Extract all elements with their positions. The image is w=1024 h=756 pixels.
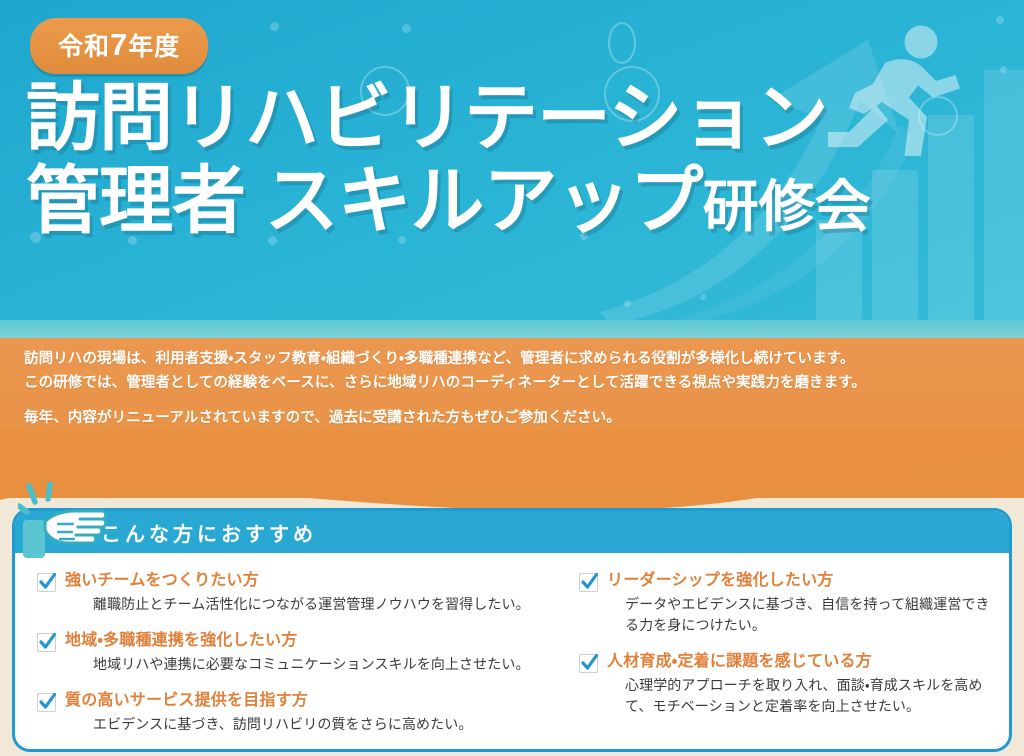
decor-dot (700, 294, 706, 300)
decor-dot (996, 16, 1004, 24)
list-item-title: リーダーシップを強化したい方 (607, 571, 833, 591)
list-item-header: リーダーシップを強化したい方 (579, 571, 1003, 592)
recommend-card: こんな方におすすめ 強いチームをつくりたい方 離職防止とチーム活性化につながる運… (12, 508, 1012, 752)
decor-dot (402, 24, 411, 33)
list-item: 強いチームをつくりたい方 離職防止とチーム活性化につながる運営管理ノウハウを習得… (37, 571, 563, 615)
description-p1-line2: この研修では、管理者としての経験をベースに、さらに地域リハのコーディネーターとし… (24, 375, 866, 391)
checkmark-icon (37, 693, 56, 712)
list-item: 人材育成・定着に課題を感じている方 心理学的アプローチを取り入れ、面談・育成スキ… (579, 652, 1003, 717)
checkmark-icon (37, 633, 56, 652)
title-line-1: 訪問リハビリテーション (26, 80, 871, 155)
recommend-card-header: こんな方におすすめ (15, 511, 1012, 553)
list-item: リーダーシップを強化したい方 データやエビデンスに基づき、自信を持って組織運営で… (579, 571, 1003, 636)
list-item-desc: エビデンスに基づき、訪問リハビリの質をさらに高めたい。 (93, 714, 563, 735)
list-item-title: 質の高いサービス提供を目指す方 (65, 691, 308, 711)
title-line-2-suffix: 研修会 (703, 175, 871, 238)
list-item-header: 人材育成・定着に課題を感じている方 (579, 652, 1003, 673)
description-paragraph-1: 訪問リハの現場は、利用者支援・スタッフ教育・組織づくり・多職種連携など、管理者に… (24, 348, 1008, 396)
list-item: 質の高いサービス提供を目指す方 エビデンスに基づき、訪問リハビリの質をさらに高め… (37, 691, 563, 735)
header-banner: 令和7年度 訪問リハビリテーション 管理者 スキルアップ研修会 (0, 0, 1024, 320)
description-text: 訪問リハの現場は、利用者支援・スタッフ教育・組織づくり・多職種連携など、管理者に… (24, 348, 1008, 431)
list-item-desc: 離職防止とチーム活性化につながる運営管理ノウハウを習得したい。 (93, 594, 563, 615)
year-badge: 令和7年度 (30, 18, 208, 74)
header-accent-band (0, 320, 1024, 338)
title-line-2-main: 管理者 スキルアップ (26, 159, 703, 242)
checkmark-icon (579, 573, 598, 592)
recommend-section-title: こんな方におすすめ (101, 518, 317, 547)
checkmark-icon (579, 654, 598, 673)
chart-bar-4 (984, 70, 1024, 320)
decor-ring (918, 96, 958, 136)
list-item-header: 質の高いサービス提供を目指す方 (37, 691, 563, 712)
decor-dot (624, 300, 631, 307)
description-paragraph-2: 毎年、内容がリニューアルされていますので、過去に受講された方もぜひご参加ください… (24, 407, 1008, 431)
recommend-columns: 強いチームをつくりたい方 離職防止とチーム活性化につながる運営管理ノウハウを習得… (15, 557, 1012, 752)
list-item-header: 強いチームをつくりたい方 (37, 571, 563, 592)
chart-bar-2 (872, 170, 918, 320)
decor-dot (270, 22, 279, 31)
title-line-2: 管理者 スキルアップ研修会 (26, 163, 871, 238)
list-item: 地域・多職種連携を強化したい方 地域リハや連携に必要なコミュニケーションスキルを… (37, 631, 563, 675)
list-item-title: 地域・多職種連携を強化したい方 (65, 631, 297, 651)
orange-wave-divider (0, 430, 1024, 520)
recommend-right-column: リーダーシップを強化したい方 データやエビデンスに基づき、自信を持って組織運営で… (575, 557, 1012, 752)
list-item-title: 強いチームをつくりたい方 (65, 571, 259, 591)
poster-root: 令和7年度 訪問リハビリテーション 管理者 スキルアップ研修会 訪問リハの現場は… (0, 0, 1024, 756)
badge-year: 7 (110, 27, 128, 62)
list-item-desc: 地域リハや連携に必要なコミュニケーションスキルを向上させたい。 (93, 654, 563, 675)
pointing-hand-icon (18, 482, 110, 560)
badge-prefix: 令和 (58, 33, 110, 61)
list-item-desc: データやエビデンスに基づき、自信を持って組織運営できる力を身につけたい。 (625, 594, 1003, 636)
decor-dot (1000, 66, 1007, 73)
recommend-left-column: 強いチームをつくりたい方 離職防止とチーム活性化につながる運営管理ノウハウを習得… (15, 557, 575, 752)
badge-suffix: 年度 (128, 33, 180, 61)
list-item-header: 地域・多職種連携を強化したい方 (37, 631, 563, 652)
description-p1-line1: 訪問リハの現場は、利用者支援・スタッフ教育・組織づくり・多職種連携など、管理者に… (24, 351, 855, 367)
page-title: 訪問リハビリテーション 管理者 スキルアップ研修会 (26, 80, 871, 239)
checkmark-icon (37, 573, 56, 592)
decor-ring (608, 22, 636, 64)
list-item-desc: 心理学的アプローチを取り入れ、面談・育成スキルを高めて、モチベーションと定着率を… (625, 675, 1003, 717)
list-item-title: 人材育成・定着に課題を感じている方 (607, 652, 872, 672)
